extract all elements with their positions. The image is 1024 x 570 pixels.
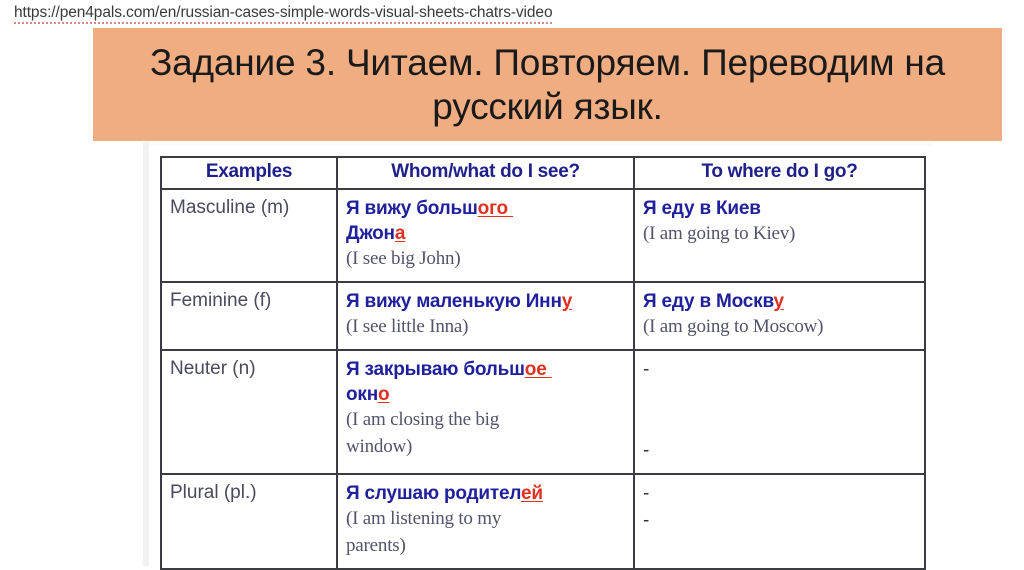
cell-gender-feminine: Feminine (f) <box>161 282 337 350</box>
russian-stem: окн <box>346 384 378 405</box>
russian-example-line1: Я вижу большого <box>346 196 627 221</box>
cell-direction-neuter: - - <box>634 350 925 474</box>
russian-example-line1: Я вижу маленькую Инну <box>346 289 627 314</box>
case-ending: ей <box>521 483 543 504</box>
table-row: Feminine (f) Я вижу маленькую Инну (I se… <box>161 282 925 350</box>
english-translation: (I see big John) <box>346 246 627 273</box>
english-translation-line2: parents) <box>346 533 627 560</box>
spacer <box>643 411 918 438</box>
russian-example-line2: Джона <box>346 221 627 246</box>
cell-gender-neuter: Neuter (n) <box>161 350 337 474</box>
cell-accusative-plural: Я слушаю родителей (I am listening to my… <box>337 474 634 569</box>
slide-left-edge <box>143 142 149 566</box>
page-title: Задание 3. Читаем. Повторяем. Переводим … <box>107 41 988 128</box>
cell-direction-feminine: Я еду в Москву (I am going to Moscow) <box>634 282 925 350</box>
table-header-row: Examples Whom/what do I see? To where do… <box>161 157 925 189</box>
gender-label: Neuter (n) <box>170 357 330 381</box>
russian-stem: Я вижу маленькую Инн <box>346 291 562 312</box>
table-body: Masculine (m) Я вижу большого Джона (I s… <box>161 189 925 569</box>
russian-example: Я еду в Киев <box>643 196 918 221</box>
cell-direction-plural: - - <box>634 474 925 569</box>
english-translation-line1: (I am closing the big <box>346 407 627 434</box>
column-header-examples: Examples <box>161 157 337 189</box>
english-translation: (I am going to Kiev) <box>643 221 918 248</box>
case-ending: ого <box>478 198 508 219</box>
case-ending: а <box>395 223 405 244</box>
cell-direction-masculine: Я еду в Киев (I am going to Kiev) <box>634 189 925 282</box>
no-form-dash: - <box>643 357 918 384</box>
russian-stem: Я слушаю родител <box>346 483 521 504</box>
column-header-direction: To where do I go? <box>634 157 925 189</box>
russian-example: Я еду в Москву <box>643 289 918 314</box>
russian-stem: Я закрываю больш <box>346 359 525 380</box>
case-ending: о <box>378 384 389 405</box>
gender-label: Masculine (m) <box>170 196 330 220</box>
gender-label: Feminine (f) <box>170 289 330 313</box>
table-row: Masculine (m) Я вижу большого Джона (I s… <box>161 189 925 282</box>
russian-stem: Я еду в Москв <box>643 291 773 312</box>
russian-stem: Я вижу больш <box>346 198 478 219</box>
case-ending: ое <box>525 359 547 380</box>
table-row: Neuter (n) Я закрываю большое окно (I am… <box>161 350 925 474</box>
english-translation-line2: window) <box>346 434 627 461</box>
table-row: Plural (pl.) Я слушаю родителей (I am li… <box>161 474 925 569</box>
slide-top-edge <box>143 142 933 146</box>
russian-example-line1: Я слушаю родителей <box>346 481 627 506</box>
russian-stem: Джон <box>346 223 395 244</box>
english-translation: (I am going to Moscow) <box>643 314 918 341</box>
table-header: Examples Whom/what do I see? To where do… <box>161 157 925 189</box>
no-form-dash: - <box>643 508 918 535</box>
url-text[interactable]: https://pen4pals.com/en/russian-cases-si… <box>14 4 552 24</box>
cell-accusative-masculine: Я вижу большого Джона (I see big John) <box>337 189 634 282</box>
english-translation: (I see little Inna) <box>346 314 627 341</box>
slide-title-banner: Задание 3. Читаем. Повторяем. Переводим … <box>93 28 1002 141</box>
case-ending: у <box>562 291 572 312</box>
russian-example-line1: Я закрываю большое <box>346 357 627 382</box>
spacer <box>643 384 918 411</box>
column-header-accusative: Whom/what do I see? <box>337 157 634 189</box>
ending-underline-tail <box>508 198 513 219</box>
english-translation-line1: (I am listening to my <box>346 506 627 533</box>
cell-accusative-feminine: Я вижу маленькую Инну (I see little Inna… <box>337 282 634 350</box>
no-form-dash: - <box>643 481 918 508</box>
browser-url-bar[interactable]: https://pen4pals.com/en/russian-cases-si… <box>14 4 552 22</box>
ending-underline-tail <box>547 359 552 380</box>
gender-label: Plural (pl.) <box>170 481 330 505</box>
cell-gender-masculine: Masculine (m) <box>161 189 337 282</box>
cell-accusative-neuter: Я закрываю большое окно (I am closing th… <box>337 350 634 474</box>
russian-example-line2: окно <box>346 382 627 407</box>
cell-gender-plural: Plural (pl.) <box>161 474 337 569</box>
no-form-dash: - <box>643 438 918 465</box>
russian-cases-table: Examples Whom/what do I see? To where do… <box>160 156 926 570</box>
case-ending: у <box>773 291 783 312</box>
